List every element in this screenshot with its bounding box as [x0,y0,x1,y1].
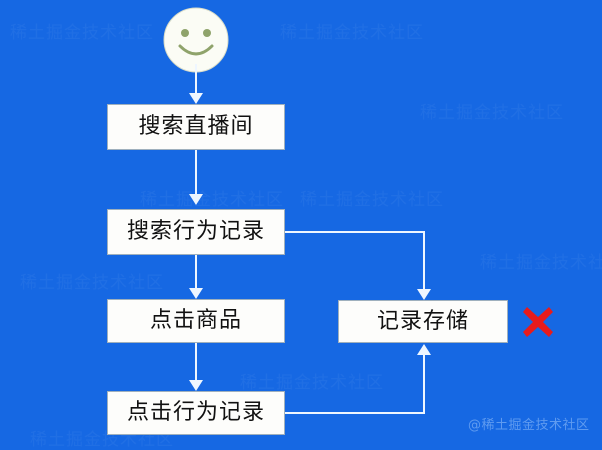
background-watermark: 稀土掘金技术社区 [240,368,384,393]
arrowhead-up-icon [417,344,431,355]
edge-click-item-to-click-log [195,343,197,384]
arrowhead-down-icon [189,93,203,104]
edge-click-log-to-record-store-horizontal [285,412,425,414]
arrowhead-down-icon [189,380,203,391]
edge-search-log-to-click-item [195,255,197,292]
arrowhead-down-icon [189,288,203,299]
background-watermark: 稀土掘金技术社区 [20,268,164,293]
background-watermark: 稀土掘金技术社区 [300,185,444,210]
node-click-item-label: 点击商品 [150,310,242,332]
edge-search-log-to-record-store-horizontal [285,231,425,233]
watermark-credit: @稀土掘金技术社区 [468,414,590,433]
diagram-canvas: 稀土掘金技术社区 稀土掘金技术社区 稀土掘金技术社区 稀土掘金技术社区 稀土掘金… [0,0,602,450]
red-cross-icon [521,305,555,339]
background-watermark: 稀土掘金技术社区 [480,248,602,273]
node-search-room[interactable]: 搜索直播间 [107,104,285,150]
node-click-item[interactable]: 点击商品 [107,299,285,343]
arrowhead-down-icon [417,289,431,300]
background-watermark: 稀土掘金技术社区 [140,185,284,210]
node-search-room-label: 搜索直播间 [138,116,253,138]
node-click-log-label: 点击行为记录 [127,402,265,424]
edge-search-room-to-search-log [195,150,197,198]
node-search-log-label: 搜索行为记录 [127,221,265,243]
background-watermark: 稀土掘金技术社区 [280,18,424,43]
arrowhead-down-icon [189,194,203,205]
background-watermark: 稀土掘金技术社区 [420,98,564,123]
node-click-log[interactable]: 点击行为记录 [107,391,285,435]
node-record-store-label: 记录存储 [377,311,469,333]
edge-search-log-to-record-store-vertical [423,231,425,293]
background-watermark: 稀土掘金技术社区 [10,18,154,43]
node-record-store[interactable]: 记录存储 [338,300,508,343]
edge-click-log-to-record-store-vertical [423,355,425,414]
node-search-log[interactable]: 搜索行为记录 [107,209,285,255]
